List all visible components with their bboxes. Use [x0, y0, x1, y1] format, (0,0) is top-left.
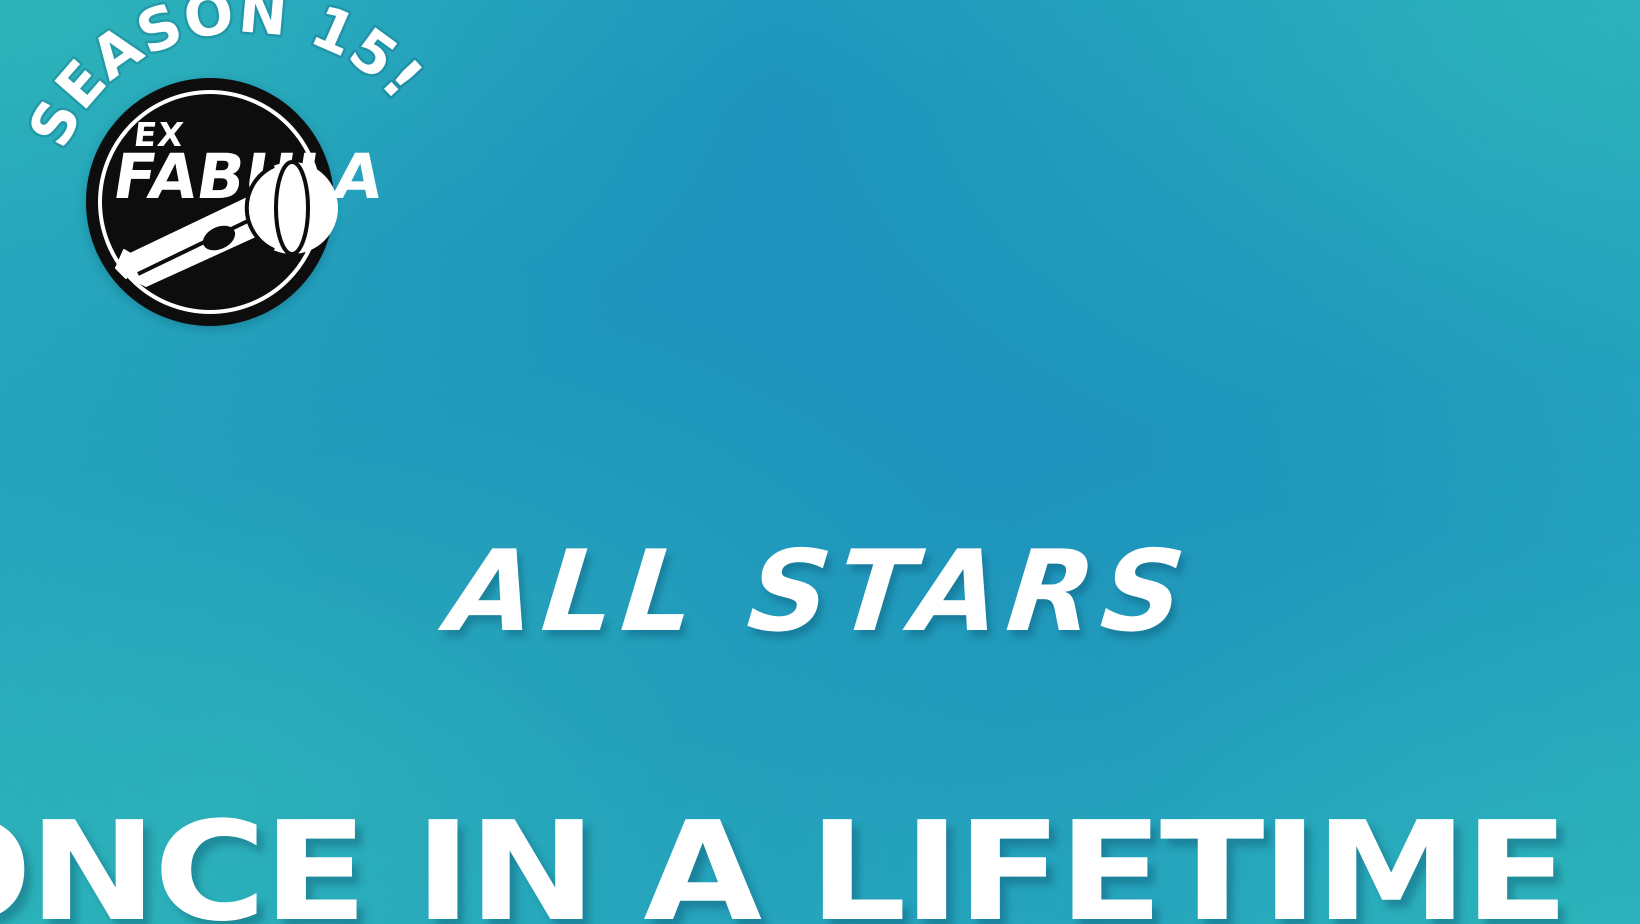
logo-badge: EX FABULA [86, 78, 334, 326]
microphone-icon [86, 78, 334, 326]
page-title: ONCE IN A LIFETIME [0, 804, 1640, 924]
eyebrow-text: ALL STARS [0, 536, 1640, 648]
ex-fabula-logo: SEASON 15! EX FABULA [44, 0, 424, 340]
event-poster: SEASON 15! EX FABULA [0, 0, 1640, 924]
